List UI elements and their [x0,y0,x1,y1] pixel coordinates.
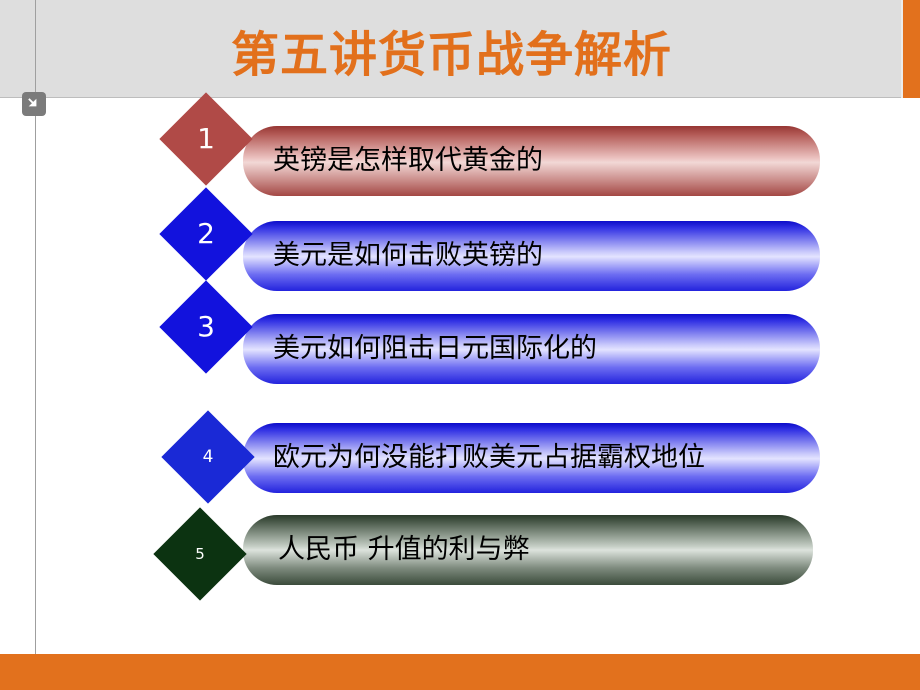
agenda-item-label: 英镑是怎样取代黄金的 [273,145,543,177]
agenda-number: 4 [175,424,241,490]
agenda-list: 英镑是怎样取代黄金的 1 美元是如何击败英镑的 2 美元如何阻击日元国际化的 3 [0,0,920,690]
agenda-number-diamond[interactable]: 5 [153,507,246,600]
agenda-bar[interactable]: 欧元为何没能打败美元占据霸权地位 [243,423,820,493]
presentation-slide: 第五讲货币战争解析 英镑是怎样取代黄金的 1 美元是如何击败英镑的 2 [0,0,920,690]
agenda-number-diamond[interactable]: 4 [161,410,254,503]
agenda-number: 5 [167,521,233,587]
agenda-item-label: 欧元为何没能打败美元占据霸权地位 [273,442,705,474]
agenda-bar[interactable]: 人民币 升值的利与弊 [243,515,813,585]
agenda-number: 3 [173,294,239,360]
agenda-bar[interactable]: 美元是如何击败英镑的 [243,221,820,291]
agenda-number: 1 [173,106,239,172]
agenda-item-label: 美元如何阻击日元国际化的 [273,333,597,365]
agenda-bar[interactable]: 英镑是怎样取代黄金的 [243,126,820,196]
agenda-bar[interactable]: 美元如何阻击日元国际化的 [243,314,820,384]
agenda-number-diamond[interactable]: 3 [159,280,252,373]
agenda-number-diamond[interactable]: 1 [159,92,252,185]
agenda-item-label: 美元是如何击败英镑的 [273,240,543,272]
agenda-number: 2 [173,201,239,267]
agenda-item-label: 人民币 升值的利与弊 [278,534,530,566]
slide-footer-band [0,654,920,690]
agenda-number-diamond[interactable]: 2 [159,187,252,280]
